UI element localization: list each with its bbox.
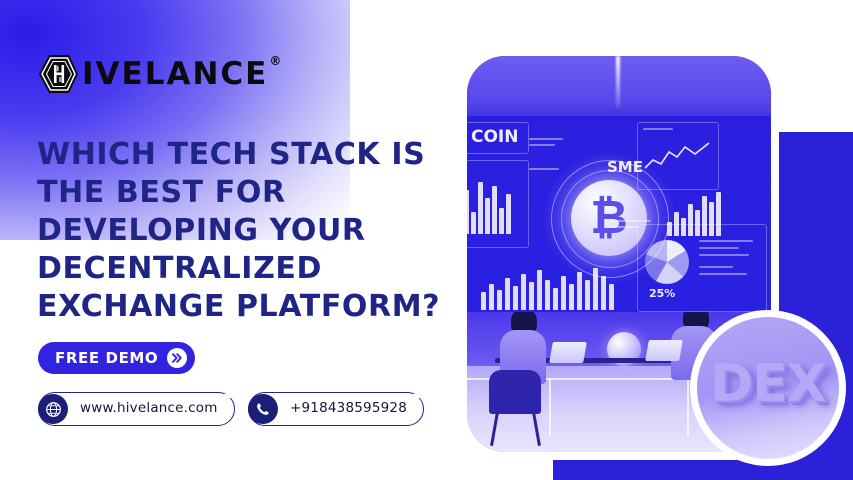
website-url: www.hivelance.com [80, 402, 218, 416]
hud-line [699, 266, 733, 268]
hud-line [529, 168, 559, 170]
bar-chart [467, 176, 511, 234]
headline: WHICH TECH STACK IS THE BEST FOR DEVELOP… [37, 136, 457, 326]
phone-number: +918438595928 [290, 402, 407, 416]
hud-line [699, 254, 749, 256]
logo-wordmark: IVELANCE [82, 59, 268, 90]
headline-line-2: THE BEST FOR [37, 174, 457, 212]
hud-line [529, 138, 563, 140]
bar-chart [481, 266, 614, 310]
double-chevron-right-icon [167, 348, 187, 368]
pill-highlight [365, 394, 425, 398]
promotional-banner: IVELANCE ® WHICH TECH STACK IS THE BEST … [0, 0, 853, 480]
ceiling [467, 56, 771, 118]
screen-label-coin: COIN [471, 129, 518, 146]
free-demo-button-label: FREE DEMO [55, 351, 158, 366]
ceiling-light [616, 56, 620, 108]
headline-line-4: DECENTRALIZED [37, 250, 457, 288]
dex-badge-inner: DEX [697, 317, 839, 459]
screen-label-percent: 25% [649, 288, 675, 299]
hud-line [609, 226, 639, 228]
pill-highlight [176, 394, 236, 398]
wall-line [687, 378, 689, 436]
laptop [645, 340, 683, 361]
pie-chart [645, 240, 689, 284]
headline-line-1: WHICH TECH STACK IS [37, 136, 457, 174]
headline-line-5: EXCHANGE PLATFORM? [37, 288, 457, 326]
bitcoin-logo: ₿ [571, 180, 647, 256]
registered-trademark-symbol: ® [269, 55, 281, 67]
wall-line [549, 378, 551, 436]
laptop [549, 342, 587, 363]
dashboard-wall: COIN ₿ SME [467, 116, 771, 314]
phone-icon [248, 394, 278, 424]
globe-icon [38, 394, 68, 424]
dex-badge: DEX [690, 310, 846, 466]
hud-line [529, 144, 555, 146]
hud-line [643, 128, 673, 130]
free-demo-button[interactable]: FREE DEMO [38, 342, 195, 374]
hud-line [609, 220, 651, 222]
headline-line-3: DEVELOPING YOUR [37, 212, 457, 250]
brand-logo[interactable]: IVELANCE ® [36, 52, 268, 96]
chair [489, 370, 541, 414]
dex-badge-label: DEX [710, 358, 826, 410]
line-chart [643, 140, 711, 174]
hud-line [699, 273, 747, 275]
phone-contact[interactable]: +918438595928 [248, 392, 424, 426]
website-contact[interactable]: www.hivelance.com [38, 392, 235, 426]
hud-line [699, 247, 739, 249]
hud-line [699, 240, 753, 242]
hexagon-h-logo-icon [36, 52, 80, 96]
